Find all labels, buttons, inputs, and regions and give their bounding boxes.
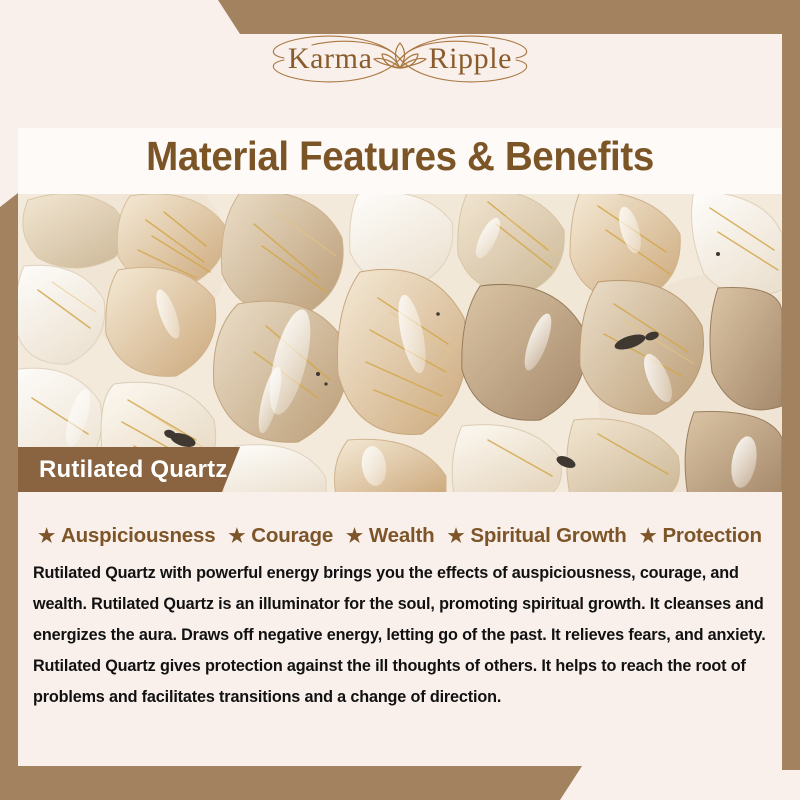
star-icon: ★ bbox=[640, 527, 657, 546]
feature-item-spiritual-growth: ★ Spiritual Growth bbox=[448, 524, 627, 548]
star-icon: ★ bbox=[38, 527, 55, 546]
stone-name-banner: Rutilated Quartz bbox=[18, 447, 240, 492]
feature-label: Protection bbox=[662, 524, 761, 548]
feature-label: Wealth bbox=[369, 524, 435, 548]
stone-name-label: Rutilated Quartz bbox=[18, 456, 228, 484]
frame-left-bar bbox=[0, 193, 18, 800]
feature-item-courage: ★ Courage bbox=[228, 524, 333, 548]
feature-label: Courage bbox=[251, 524, 333, 548]
feature-item-wealth: ★ Wealth bbox=[346, 524, 434, 548]
description-paragraph: Rutilated Quartz with powerful energy br… bbox=[33, 558, 777, 713]
feature-label: Spiritual Growth bbox=[470, 524, 626, 548]
frame-bottom-bar bbox=[0, 766, 800, 800]
star-icon: ★ bbox=[346, 527, 363, 546]
feature-list: ★ Auspiciousness ★ Courage ★ Wealth ★ Sp… bbox=[18, 524, 782, 548]
page-title: Material Features & Benefits bbox=[41, 133, 759, 180]
feature-label: Auspiciousness bbox=[61, 524, 215, 548]
feature-item-auspiciousness: ★ Auspiciousness bbox=[38, 524, 215, 548]
star-icon: ★ bbox=[448, 527, 465, 546]
frame-right-bar bbox=[782, 0, 800, 770]
star-icon: ★ bbox=[228, 527, 245, 546]
feature-item-protection: ★ Protection bbox=[640, 524, 762, 548]
frame-top-bar bbox=[0, 0, 800, 34]
infographic-page: Karma Ripple Material Features & Benefit… bbox=[0, 0, 800, 800]
